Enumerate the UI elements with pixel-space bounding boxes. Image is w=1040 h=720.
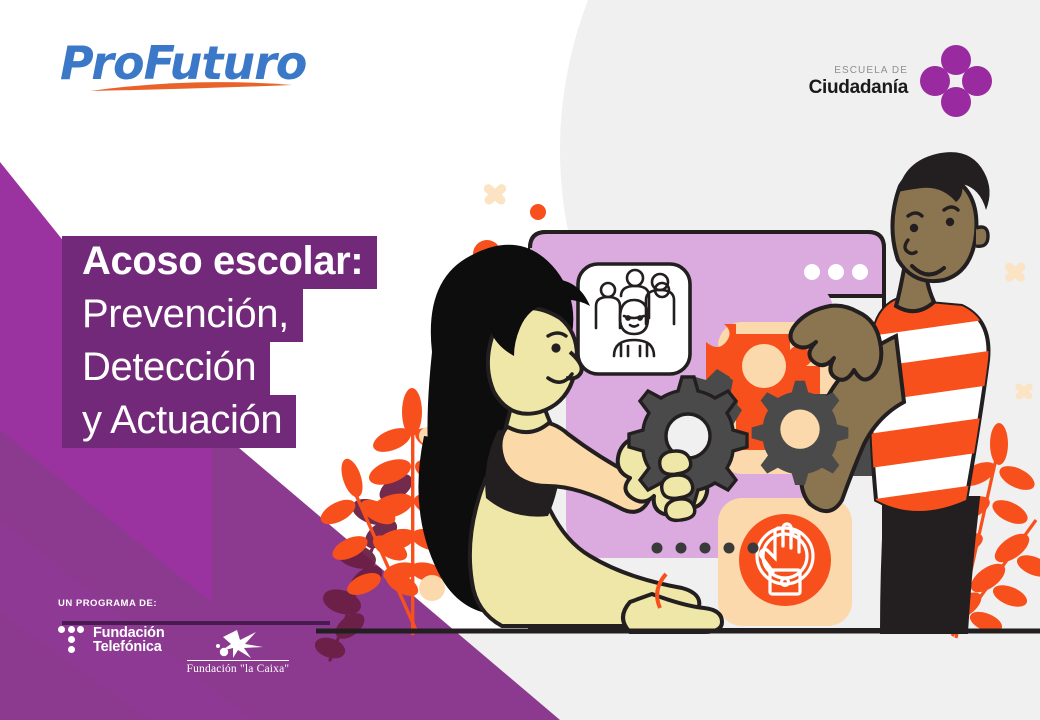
telefonica-line-1: Fundación: [93, 626, 165, 641]
telefonica-line-2: Telefónica: [93, 640, 165, 655]
profuturo-logo: ProFuturo: [60, 40, 306, 94]
sponsor-label: UN PROGRAMA DE:: [58, 598, 289, 609]
escuela-title: Ciudadanía: [809, 78, 908, 97]
dot: [530, 204, 546, 220]
escuela-ciudadania-logo: ESCUELA DE Ciudadanía: [809, 45, 992, 117]
sponsor-block: UN PROGRAMA DE: Fundación Telefónica: [58, 598, 289, 675]
people-group-card: [578, 264, 690, 374]
escuela-supertitle: ESCUELA DE: [809, 66, 908, 76]
telefonica-wordmark: Fundación Telefónica: [93, 626, 165, 655]
sponsor-row: Fundación Telefónica Fundación "la Caixa…: [58, 625, 289, 675]
fundacion-telefonica-logo: Fundación Telefónica: [58, 625, 165, 655]
four-circles-diamond-icon: [920, 45, 992, 117]
title-line-2: Prevención,: [62, 289, 303, 342]
title-line-4: y Actuación: [62, 395, 296, 448]
lacaixa-caption: Fundación "la Caixa": [187, 660, 290, 675]
fundacion-lacaixa-logo: Fundación "la Caixa": [187, 629, 290, 675]
lacaixa-star-icon: [187, 629, 290, 659]
escuela-ciudadania-text: ESCUELA DE Ciudadanía: [809, 66, 908, 97]
page-title: Acoso escolar: Prevención, Detección y A…: [62, 236, 377, 448]
profuturo-wordmark: ProFuturo: [60, 40, 306, 86]
title-line-1: Acoso escolar:: [62, 236, 377, 289]
telefonica-dots-icon: [58, 625, 84, 655]
title-line-3: Detección: [62, 342, 270, 395]
